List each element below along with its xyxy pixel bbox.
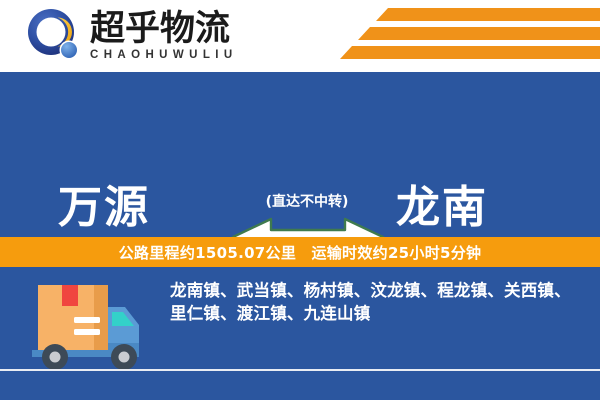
circle-crescent-logo-icon	[26, 7, 84, 65]
coverage-section: 龙南镇、武当镇、杨村镇、汶龙镇、程龙镇、关西镇、里仁镇、渡江镇、九连山镇	[0, 267, 600, 400]
delivery-truck-icon	[26, 277, 151, 375]
brand-name-cn: 超乎物流	[90, 11, 238, 47]
logistics-route-banner: 超乎物流 CHAOHUWULIU 万源 (直达不中转)	[0, 0, 600, 400]
three-slanted-stripes-icon	[330, 8, 600, 66]
destination-city: 龙南	[396, 171, 488, 235]
distance-duration-text: 公路里程约1505.07公里 运输时效约25小时5分钟	[119, 242, 482, 263]
brand-logo: 超乎物流 CHAOHUWULIU	[26, 6, 238, 66]
brand-logo-text: 超乎物流 CHAOHUWULIU	[90, 11, 238, 62]
direct-service-note: (直达不中转)	[227, 191, 387, 211]
banner-header: 超乎物流 CHAOHUWULIU	[0, 0, 600, 72]
covered-towns-list: 龙南镇、武当镇、杨村镇、汶龙镇、程龙镇、关西镇、里仁镇、渡江镇、九连山镇	[170, 279, 582, 326]
brand-name-en: CHAOHUWULIU	[90, 50, 238, 62]
bottom-divider	[0, 369, 600, 371]
route-section: 万源 (直达不中转) 【往返运输】 龙南	[0, 73, 600, 237]
distance-duration-bar: 公路里程约1505.07公里 运输时效约25小时5分钟	[0, 237, 600, 267]
origin-city: 万源	[58, 171, 150, 235]
